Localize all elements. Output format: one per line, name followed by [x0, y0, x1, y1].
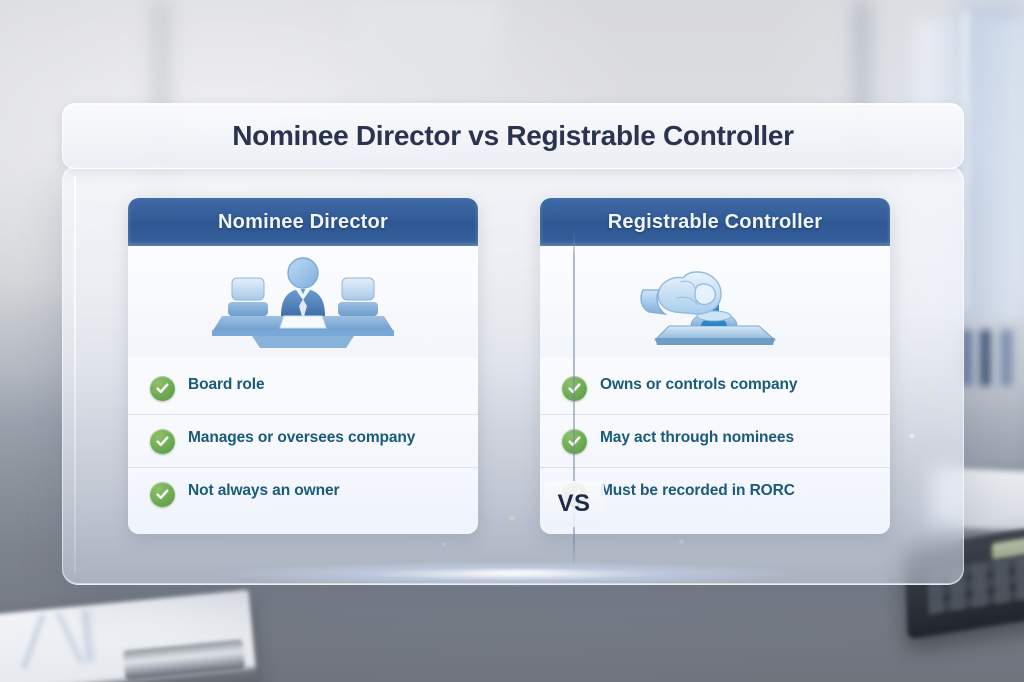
boardroom-table-icon [208, 252, 398, 352]
list-item-label: Must be recorded in RORC [600, 481, 795, 501]
list-item[interactable]: Not always an owner [128, 467, 478, 520]
illustration-right [540, 246, 890, 358]
vs-badge: VS [544, 481, 604, 527]
list-item[interactable]: May act through nominees [540, 414, 890, 467]
list-item-label: Manages or oversees company [188, 428, 415, 448]
title-bar: Nominee Director vs Registrable Controll… [62, 103, 964, 169]
page-title: Nominee Director vs Registrable Controll… [232, 120, 794, 152]
illustration-left [128, 246, 478, 358]
card-header-right: Registrable Controller [540, 198, 890, 246]
card-heading-left: Nominee Director [218, 211, 388, 234]
hand-on-control-lever-icon [625, 252, 805, 352]
check-circle-icon [150, 376, 175, 401]
list-item-label: Board role [188, 375, 265, 395]
list-item[interactable]: Owns or controls company [540, 362, 890, 414]
feature-list-left: Board role Manages or oversees company N… [128, 358, 478, 534]
comparison-container: Nominee Director [62, 198, 962, 568]
card-heading-right: Registrable Controller [608, 211, 822, 234]
list-item-label: Not always an owner [188, 481, 339, 501]
check-circle-icon [150, 482, 175, 507]
card-header-left: Nominee Director [128, 198, 478, 246]
check-circle-icon [150, 429, 175, 454]
list-item[interactable]: Manages or oversees company [128, 414, 478, 467]
infographic-screen: Nominee Director vs Registrable Controll… [0, 0, 1024, 682]
light-flare-core [430, 569, 610, 574]
vs-label: VS [557, 490, 590, 518]
list-item-label: May act through nominees [600, 428, 794, 448]
list-item[interactable]: Board role [128, 362, 478, 414]
card-nominee-director[interactable]: Nominee Director [128, 198, 478, 534]
list-item-label: Owns or controls company [600, 375, 797, 395]
